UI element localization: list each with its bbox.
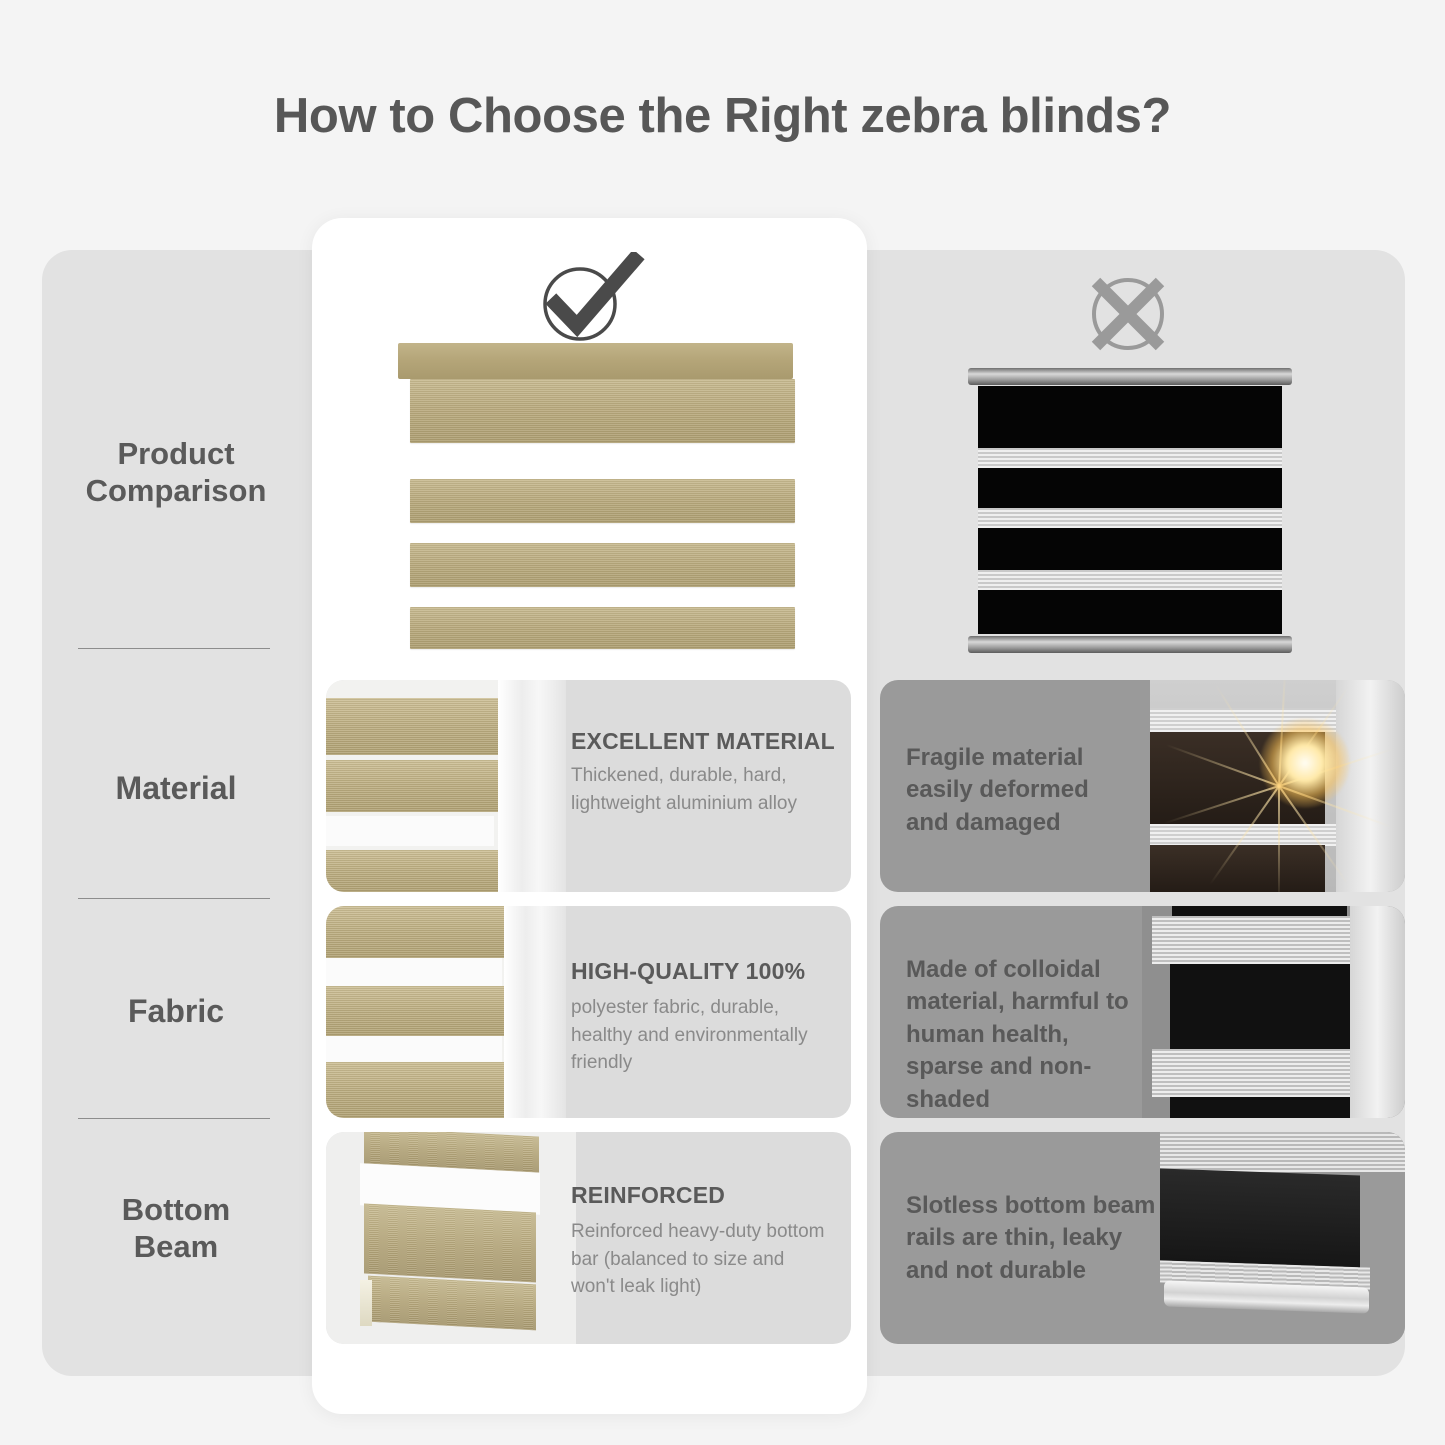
blind-band — [410, 543, 795, 587]
check-circle-icon — [536, 252, 646, 348]
hero-image-black-zebra-blind — [968, 368, 1292, 653]
row-label-line1: Bottom — [122, 1192, 230, 1227]
row-label-line2: Beam — [134, 1229, 218, 1264]
feature-body: Thickened, durable, hard, lightweight al… — [571, 762, 821, 817]
image-reinforced-bottom-bar — [326, 1132, 576, 1344]
row-divider-3 — [78, 1118, 270, 1119]
feature-body: Reinforced heavy-duty bottom bar (balanc… — [571, 1218, 829, 1301]
blind-body — [978, 386, 1282, 634]
feature-card-bottom-beam-bad: Slotless bottom beam rails are thin, lea… — [880, 1132, 1405, 1344]
feature-title: EXCELLENT MATERIAL — [571, 728, 835, 755]
row-divider-1 — [78, 648, 270, 649]
image-tan-blind-closeup — [326, 680, 566, 892]
feature-card-fabric-bad: Made of colloidal material, harmful to h… — [880, 906, 1405, 1118]
blind-sheer-band — [978, 448, 1282, 468]
feature-card-material-bad: Fragile material easily deformed and dam… — [880, 680, 1405, 892]
row-label-bottom-beam: Bottom Beam — [42, 1192, 310, 1265]
blind-sheer-band — [978, 570, 1282, 590]
row-label-product-comparison: Product Comparison — [42, 436, 310, 509]
infographic-root: How to Choose the Right zebra blinds? Pr… — [0, 0, 1445, 1445]
sun-flare-icon — [1260, 718, 1350, 808]
feature-body: Made of colloidal material, harmful to h… — [906, 954, 1151, 1116]
feature-card-fabric-good: HIGH-QUALITY 100% polyester fabric, dura… — [326, 906, 851, 1118]
feature-body: Slotless bottom beam rails are thin, lea… — [906, 1190, 1156, 1287]
image-tan-fabric-closeup — [326, 906, 566, 1118]
row-divider-2 — [78, 898, 270, 899]
row-label-line1: Material — [116, 770, 237, 806]
image-black-blind-sparse — [1142, 906, 1405, 1118]
feature-card-bottom-beam-good: REINFORCED Reinforced heavy-duty bottom … — [326, 1132, 851, 1344]
blind-band — [410, 607, 795, 649]
image-thin-bottom-rail — [1160, 1132, 1405, 1344]
row-label-line2: Comparison — [86, 473, 267, 508]
feature-body: polyester fabric, durable, healthy and e… — [571, 994, 823, 1077]
feature-body: Fragile material easily deformed and dam… — [906, 742, 1136, 839]
row-label-material: Material — [42, 770, 310, 808]
row-label-fabric: Fabric — [42, 993, 310, 1031]
blind-bottom-rail — [968, 636, 1292, 653]
blind-headrail — [968, 368, 1292, 385]
feature-title: REINFORCED — [571, 1182, 725, 1209]
blind-band — [410, 379, 795, 443]
blind-headrail — [398, 343, 793, 379]
hero-image-tan-zebra-blind — [388, 343, 793, 661]
row-label-line1: Product — [117, 436, 234, 471]
feature-card-material-good: EXCELLENT MATERIAL Thickened, durable, h… — [326, 680, 851, 892]
blind-band — [410, 479, 795, 523]
blind-sheer-band — [978, 508, 1282, 528]
feature-title: HIGH-QUALITY 100% — [571, 958, 805, 985]
row-label-line1: Fabric — [128, 993, 224, 1029]
page-title: How to Choose the Right zebra blinds? — [0, 88, 1445, 144]
image-sunlight-leak — [1150, 680, 1405, 892]
x-circle-icon — [1082, 268, 1174, 360]
